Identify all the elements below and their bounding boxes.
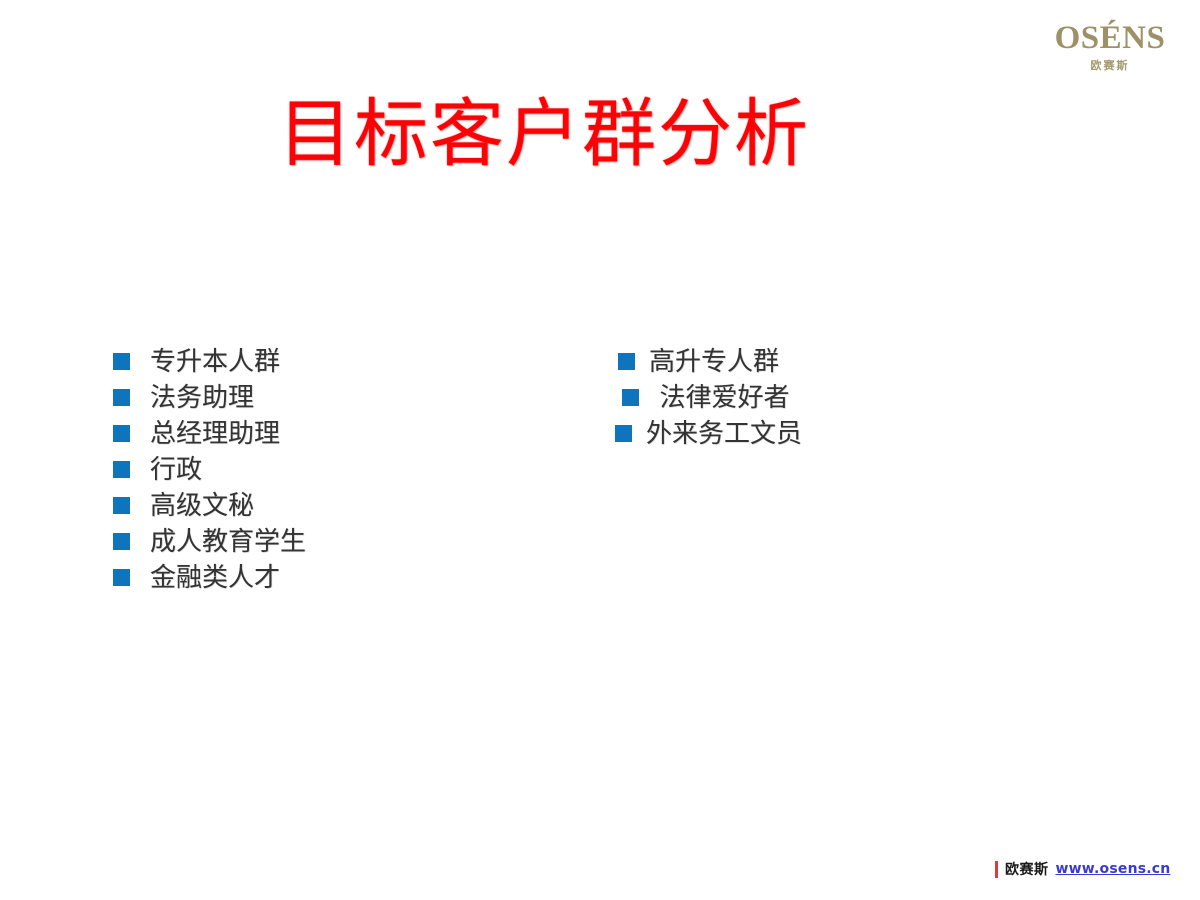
logo-subtext: 欧赛斯: [1040, 60, 1180, 71]
list-item-label: 法务助理: [150, 381, 254, 415]
list-item: 法务助理: [113, 381, 543, 417]
square-bullet-icon: [615, 425, 632, 442]
square-bullet-icon: [113, 569, 130, 586]
logo-wordmark: OSÉNS: [1040, 22, 1180, 55]
square-bullet-icon: [618, 353, 635, 370]
list-item: 高级文秘: [113, 489, 543, 525]
square-bullet-icon: [113, 497, 130, 514]
list-item: 法律爱好者: [615, 381, 1045, 417]
list-item: 行政: [113, 453, 543, 489]
list-item: 成人教育学生: [113, 525, 543, 561]
footer: 欧赛斯 www.osens.cn: [995, 858, 1170, 880]
list-item: 外来务工文员: [615, 417, 1045, 453]
square-bullet-icon: [113, 353, 130, 370]
square-bullet-icon: [113, 461, 130, 478]
list-item-label: 专升本人群: [150, 345, 280, 379]
list-item-label: 外来务工文员: [646, 417, 802, 451]
list-item-label: 高级文秘: [150, 489, 254, 523]
slide-canvas: OSÉNS 欧赛斯 目标客户群分析 专升本人群 法务助理 总经理助理 行政 高级…: [0, 0, 1200, 900]
list-item-label: 金融类人才: [150, 561, 280, 595]
list-item-label: 行政: [150, 453, 202, 487]
page-title: 目标客户群分析: [278, 97, 878, 175]
list-item: 总经理助理: [113, 417, 543, 453]
square-bullet-icon: [622, 389, 639, 406]
square-bullet-icon: [113, 425, 130, 442]
list-item-label: 成人教育学生: [150, 525, 306, 559]
square-bullet-icon: [113, 533, 130, 550]
bullet-list-right: 高升专人群 法律爱好者 外来务工文员: [615, 345, 1045, 453]
bullet-list-left: 专升本人群 法务助理 总经理助理 行政 高级文秘 成人教育学生 金融类人才: [113, 345, 543, 597]
list-item: 高升专人群: [615, 345, 1045, 381]
footer-website-link[interactable]: www.osens.cn: [1056, 861, 1171, 877]
list-item: 金融类人才: [113, 561, 543, 597]
list-item-label: 高升专人群: [649, 345, 779, 379]
brand-logo: OSÉNS 欧赛斯: [1040, 22, 1180, 82]
list-item-label: 总经理助理: [150, 417, 280, 451]
accent-bar-icon: [995, 861, 998, 878]
list-item: 专升本人群: [113, 345, 543, 381]
square-bullet-icon: [113, 389, 130, 406]
footer-brand-label: 欧赛斯: [1005, 859, 1049, 879]
list-item-label: 法律爱好者: [653, 381, 790, 415]
